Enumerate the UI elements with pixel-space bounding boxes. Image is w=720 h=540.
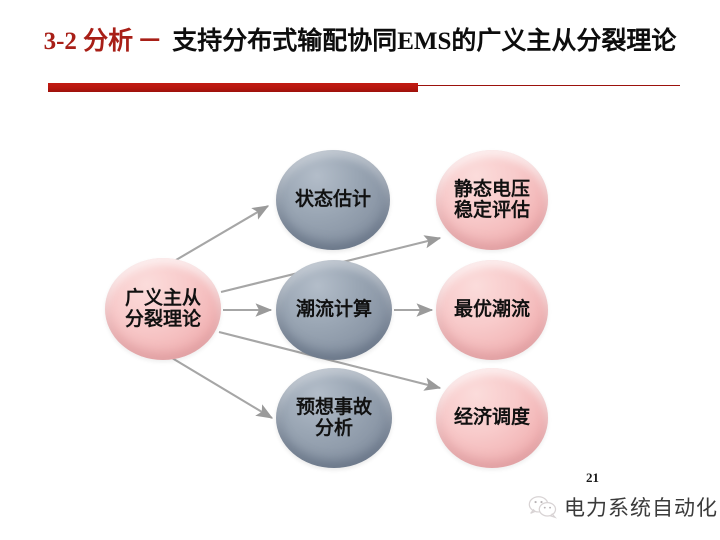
page-title: 3-2 分析－支持分布式输配协同EMS的广义主从分裂理论 <box>0 22 720 66</box>
node-optimal-power-flow-label: 最优潮流 <box>454 299 530 320</box>
node-voltage-stability[interactable]: 静态电压 稳定评估 <box>436 150 548 250</box>
brand-text: 电力系统自动化 <box>564 492 718 522</box>
page-number: 21 <box>586 470 599 486</box>
node-core-label: 广义主从 分裂理论 <box>125 288 201 331</box>
title-underline-thick <box>48 83 418 92</box>
node-core[interactable]: 广义主从 分裂理论 <box>105 258 221 360</box>
concept-diagram: 广义主从 分裂理论 状态估计 潮流计算 预想事故 分析 静态电压 稳定评估 最优… <box>0 110 720 480</box>
title-main-text: 支持分布式输配协同EMS的广义主从分裂理论 <box>166 28 676 55</box>
node-contingency-analysis-label: 预想事故 分析 <box>296 397 372 440</box>
wechat-icon <box>528 494 558 520</box>
node-state-estimation[interactable]: 状态估计 <box>276 150 390 250</box>
node-power-flow[interactable]: 潮流计算 <box>276 260 392 360</box>
node-power-flow-label: 潮流计算 <box>296 299 372 320</box>
node-contingency-analysis[interactable]: 预想事故 分析 <box>276 368 392 468</box>
title-prefix: 3-2 分析 <box>44 28 134 55</box>
title-underline-thin <box>418 85 680 86</box>
title-dash: － <box>133 27 166 55</box>
edge-core-to-contingency <box>172 358 272 418</box>
node-optimal-power-flow[interactable]: 最优潮流 <box>436 260 548 360</box>
slide-canvas: 3-2 分析－支持分布式输配协同EMS的广义主从分裂理论 <box>0 0 720 540</box>
node-economic-dispatch[interactable]: 经济调度 <box>436 368 548 468</box>
node-state-estimation-label: 状态估计 <box>295 189 371 210</box>
node-voltage-stability-label: 静态电压 稳定评估 <box>454 179 530 222</box>
edge-core-to-state-est <box>176 206 268 260</box>
footer-brand: 电力系统自动化 <box>528 492 718 522</box>
node-economic-dispatch-label: 经济调度 <box>454 407 530 428</box>
